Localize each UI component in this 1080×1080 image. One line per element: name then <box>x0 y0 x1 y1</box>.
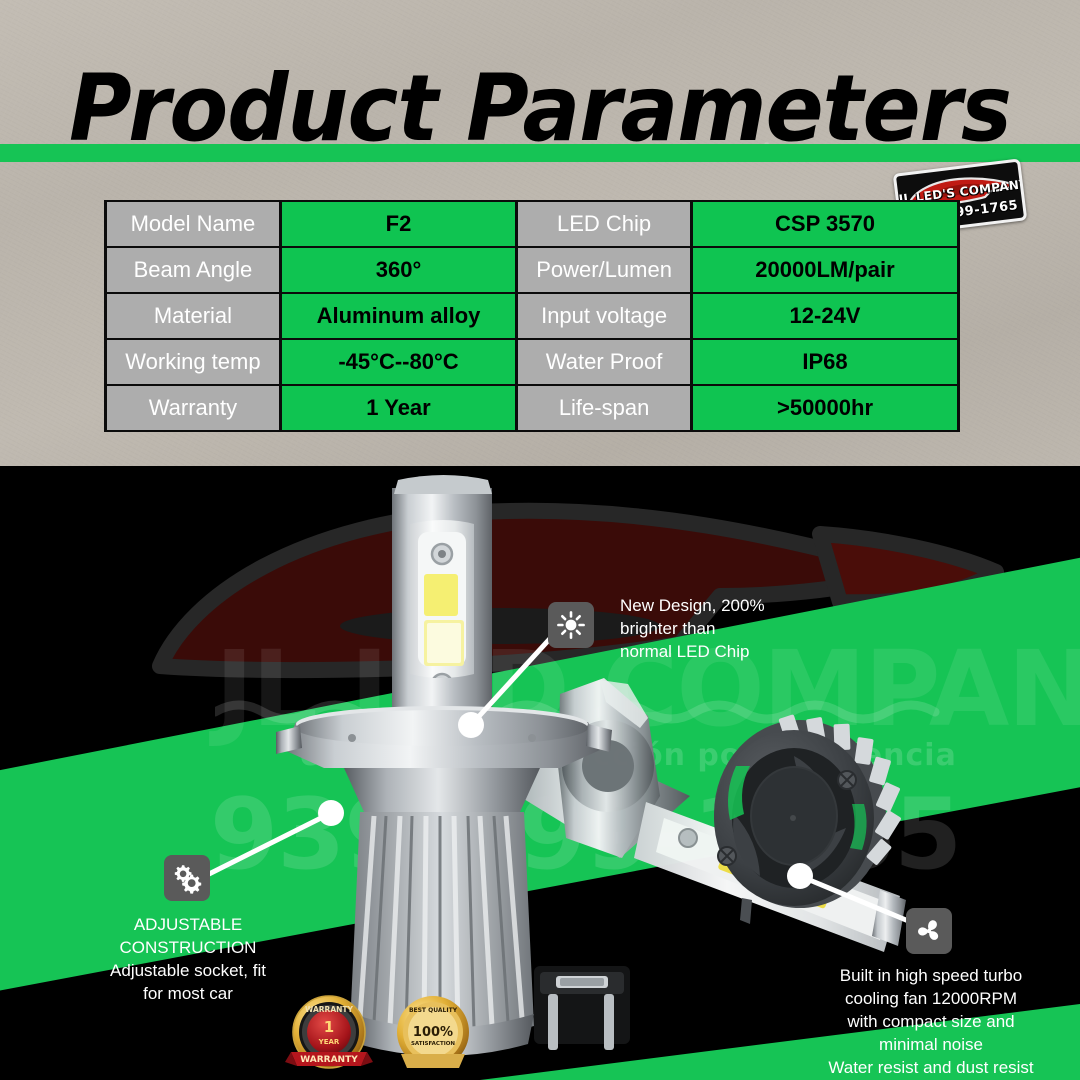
spec-table-body: Model Name F2 LED Chip CSP 3570 Beam Ang… <box>107 202 957 430</box>
spec-value: IP68 <box>693 340 957 384</box>
callout-cooling-fan: Built in high speed turbo cooling fan 12… <box>906 908 952 954</box>
spec-label: Working temp <box>107 340 279 384</box>
trust-badges: 1 YEAR WARRANTY WARRANTY 100% SATISFACTI… <box>283 992 483 1080</box>
spec-value: 12-24V <box>693 294 957 338</box>
adjustable-heading-2: CONSTRUCTION <box>86 936 290 959</box>
specifications-table: Model Name F2 LED Chip CSP 3570 Beam Ang… <box>104 200 960 432</box>
spec-value: -45°C--80°C <box>282 340 515 384</box>
callout-brightness: New Design, 200% brighter than normal LE… <box>548 602 594 648</box>
adjustable-line-1: Adjustable socket, fit <box>110 961 266 980</box>
svg-text:1: 1 <box>324 1018 334 1036</box>
svg-text:WARRANTY: WARRANTY <box>305 1005 353 1014</box>
brightness-line-2: brighter than <box>620 619 715 638</box>
brightness-line-3: normal LED Chip <box>620 642 749 661</box>
spec-section: Product Parameters JL LED'S COMPANY 939-… <box>0 0 1080 466</box>
spec-value: CSP 3570 <box>693 202 957 246</box>
spec-value: F2 <box>282 202 515 246</box>
callout-adjustable-text: ADJUSTABLE CONSTRUCTION Adjustable socke… <box>86 913 290 1005</box>
table-row: Model Name F2 LED Chip CSP 3570 <box>107 202 957 246</box>
spec-value: 20000LM/pair <box>693 248 957 292</box>
spec-label: Material <box>107 294 279 338</box>
brightness-line-1: New Design, 200% <box>620 596 765 615</box>
satisfaction-seal: 100% SATISFACTION BEST QUALITY <box>397 996 469 1068</box>
spec-label: Beam Angle <box>107 248 279 292</box>
spec-value: 1 Year <box>282 386 515 430</box>
svg-text:YEAR: YEAR <box>318 1038 340 1046</box>
table-row: Warranty 1 Year Life-span >50000hr <box>107 386 957 430</box>
spec-value: Aluminum alloy <box>282 294 515 338</box>
spec-label: Water Proof <box>518 340 690 384</box>
spec-label: Input voltage <box>518 294 690 338</box>
warranty-seal: 1 YEAR WARRANTY WARRANTY <box>285 996 373 1068</box>
brightness-sun-icon <box>548 602 594 648</box>
spec-label: Power/Lumen <box>518 248 690 292</box>
callout-adjustable-construction: ADJUSTABLE CONSTRUCTION Adjustable socke… <box>164 855 210 901</box>
svg-text:100%: 100% <box>413 1025 453 1040</box>
fan-line-1: Built in high speed turbo <box>840 966 1022 985</box>
svg-text:WARRANTY: WARRANTY <box>300 1055 358 1065</box>
fan-line-5: Water resist and dust resist <box>828 1058 1033 1077</box>
svg-text:SATISFACTION: SATISFACTION <box>411 1041 455 1047</box>
callout-brightness-text: New Design, 200% brighter than normal LE… <box>620 594 810 663</box>
fan-line-2: cooling fan 12000RPM <box>845 989 1017 1008</box>
spec-label: Warranty <box>107 386 279 430</box>
spec-label: LED Chip <box>518 202 690 246</box>
table-row: Material Aluminum alloy Input voltage 12… <box>107 294 957 338</box>
fan-line-4: minimal noise <box>879 1035 983 1054</box>
spec-value: 360° <box>282 248 515 292</box>
svg-text:BEST QUALITY: BEST QUALITY <box>409 1007 458 1014</box>
adjustable-heading-1: ADJUSTABLE <box>86 913 290 936</box>
spec-value: >50000hr <box>693 386 957 430</box>
spec-label: Model Name <box>107 202 279 246</box>
cooling-fan-icon <box>906 908 952 954</box>
driver-ballast-box <box>534 966 630 1050</box>
fan-line-3: with compact size and <box>847 1012 1014 1031</box>
table-row: Beam Angle 360° Power/Lumen 20000LM/pair <box>107 248 957 292</box>
table-row: Working temp -45°C--80°C Water Proof IP6… <box>107 340 957 384</box>
product-parameters-poster: Product Parameters JL LED'S COMPANY 939-… <box>0 0 1080 1080</box>
adjustable-line-2: for most car <box>143 984 233 1003</box>
callout-fan-text: Built in high speed turbo cooling fan 12… <box>786 964 1076 1079</box>
title-underline-rule <box>0 144 1080 162</box>
gears-icon <box>164 855 210 901</box>
spec-label: Life-span <box>518 386 690 430</box>
